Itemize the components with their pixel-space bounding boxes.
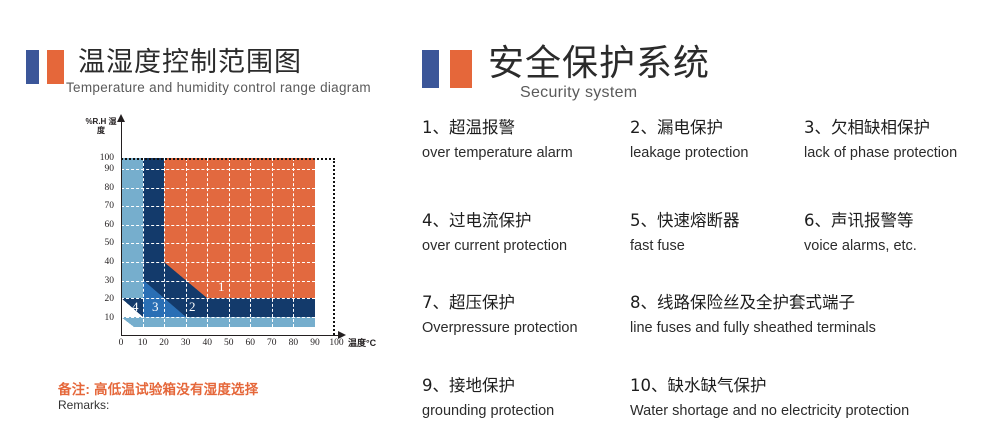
list-item-title-en: grounding protection — [422, 401, 554, 421]
right-section-title-en: Security system — [520, 84, 637, 102]
temperature-humidity-chart: %R.H 湿度 — [80, 112, 410, 372]
tricolor-flag-icon — [422, 50, 472, 88]
list-item-title-en: Overpressure protection — [422, 318, 578, 338]
flag-bar-orange — [450, 50, 473, 88]
tricolor-flag-icon — [26, 50, 64, 84]
x-axis-line — [121, 335, 339, 336]
left-section-title-cn: 温湿度控制范围图 — [78, 40, 302, 79]
x-tick-label: 10 — [131, 338, 155, 348]
flag-bar-white — [39, 50, 47, 84]
x-tick-label: 30 — [174, 338, 198, 348]
list-item: 2、漏电保护 leakage protection — [630, 118, 749, 163]
y-axis-label-text: %R.H 湿度 — [85, 117, 116, 135]
remark-text-en: Remarks: — [58, 398, 109, 412]
x-tick-label: 90 — [303, 338, 327, 348]
x-tick-label: 40 — [195, 338, 219, 348]
list-item: 5、快速熔断器 fast fuse — [630, 211, 740, 256]
flag-bar-blue — [422, 50, 439, 88]
x-tick-label: 0 — [109, 338, 133, 348]
list-item: 4、过电流保护 over current protection — [422, 211, 567, 256]
list-item-title-en: over temperature alarm — [422, 143, 573, 163]
x-tick-label: 60 — [238, 338, 262, 348]
x-tick-label: 70 — [260, 338, 284, 348]
y-tick-label: 100 — [82, 153, 114, 163]
x-tick-label: 20 — [152, 338, 176, 348]
y-tick-label: 80 — [82, 183, 114, 193]
list-item-title-en: leakage protection — [630, 143, 749, 163]
flag-bar-blue — [26, 50, 39, 84]
right-section-title-cn: 安全保护系统 — [488, 34, 710, 86]
x-tick-label: 100 — [325, 338, 349, 348]
x-tick-label: 50 — [217, 338, 241, 348]
x-tick-label: 80 — [281, 338, 305, 348]
list-item: 8、线路保险丝及全护套式端子 line fuses and fully shea… — [630, 293, 876, 338]
list-item-title-cn: 3、欠相缺相保护 — [804, 118, 957, 138]
list-item-title-en: lack of phase protection — [804, 143, 957, 163]
y-axis-line — [121, 120, 122, 335]
y-tick-label: 10 — [82, 313, 114, 323]
list-item: 9、接地保护 grounding protection — [422, 376, 554, 421]
y-axis-label: %R.H 湿度 — [82, 117, 120, 135]
list-item-title-cn: 7、超压保护 — [422, 293, 578, 313]
remark-text-cn: 备注: 高低温试验箱没有湿度选择 — [58, 378, 258, 398]
list-item-title-cn: 9、接地保护 — [422, 376, 554, 396]
flag-bar-white — [439, 50, 450, 88]
y-tick-label: 60 — [82, 220, 114, 230]
y-axis-arrow-icon — [117, 114, 125, 122]
list-item-title-cn: 10、缺水缺气保护 — [630, 376, 909, 396]
page-root: 温湿度控制范围图 Temperature and humidity contro… — [0, 0, 1000, 412]
flag-bar-orange — [47, 50, 64, 84]
list-item-title-cn: 6、声讯报警等 — [804, 211, 917, 231]
protection-feature-list: 1、超温报警 over temperature alarm 2、漏电保护 lea… — [422, 118, 1000, 412]
y-tick-label: 20 — [82, 294, 114, 304]
list-item-title-cn: 4、过电流保护 — [422, 211, 567, 231]
y-tick-label: 40 — [82, 257, 114, 267]
y-tick-label: 90 — [82, 164, 114, 174]
list-item: 7、超压保护 Overpressure protection — [422, 293, 578, 338]
list-item-title-en: voice alarms, etc. — [804, 236, 917, 256]
list-item-title-cn: 1、超温报警 — [422, 118, 573, 138]
list-item-title-en: fast fuse — [630, 236, 740, 256]
left-section-title-en: Temperature and humidity control range d… — [66, 80, 371, 95]
y-tick-label: 50 — [82, 238, 114, 248]
x-axis-label: 温度°C — [348, 336, 376, 349]
y-tick-label: 70 — [82, 201, 114, 211]
list-item-title-en: line fuses and fully sheathed terminals — [630, 318, 876, 338]
y-tick-label: 30 — [82, 276, 114, 286]
list-item: 3、欠相缺相保护 lack of phase protection — [804, 118, 957, 163]
list-item-title-cn: 2、漏电保护 — [630, 118, 749, 138]
list-item-title-en: over current protection — [422, 236, 567, 256]
list-item: 10、缺水缺气保护 Water shortage and no electric… — [630, 376, 909, 421]
list-item: 6、声讯报警等 voice alarms, etc. — [804, 211, 917, 256]
list-item: 1、超温报警 over temperature alarm — [422, 118, 573, 163]
list-item-title-cn: 8、线路保险丝及全护套式端子 — [630, 293, 876, 313]
chart-dotted-boundary — [121, 158, 335, 335]
list-item-title-cn: 5、快速熔断器 — [630, 211, 740, 231]
list-item-title-en: Water shortage and no electricity protec… — [630, 401, 909, 421]
